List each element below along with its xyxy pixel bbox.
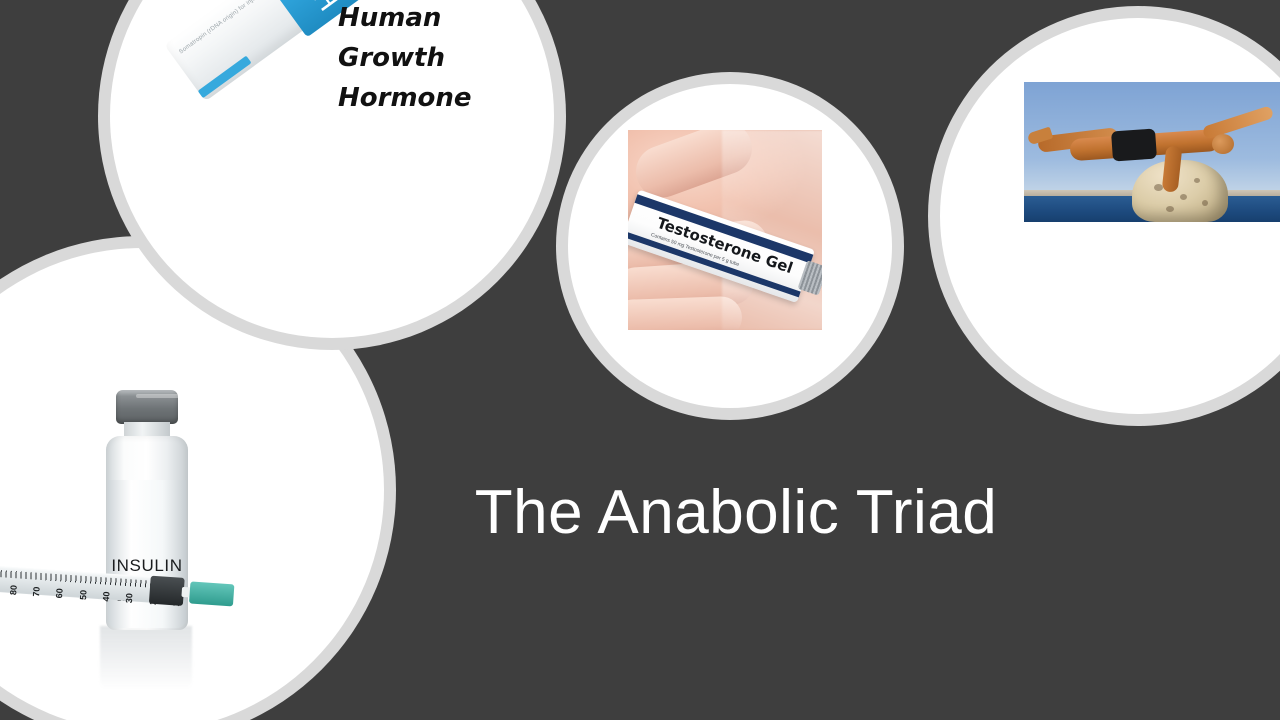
hgh-caption: Human Growth Hormone — [338, 0, 488, 118]
insulin-vial-reflection — [100, 626, 192, 690]
syringe-scale-tick: 80 — [8, 585, 19, 596]
testosterone-photo: Testosterone Gel Contains 50 mg Testoste… — [628, 130, 822, 330]
bodybuilder-photo — [1024, 82, 1280, 222]
athlete-shorts — [1111, 129, 1157, 162]
hgh-vial-body-stripe — [198, 56, 252, 99]
rock-texture-spot — [1180, 194, 1187, 200]
page-title: The Anabolic Triad — [420, 474, 1052, 552]
hgh-caption-line-1: Human — [338, 0, 488, 38]
hgh-caption-line-2: Growth — [338, 38, 488, 78]
syringe-needle-hub — [189, 581, 234, 606]
syringe-scale-tick: 70 — [31, 586, 42, 597]
rock-texture-spot — [1202, 200, 1208, 206]
syringe-scale-tick: 40 — [101, 591, 112, 602]
rock-texture-spot — [1166, 206, 1174, 212]
testosterone-circle[interactable]: Testosterone Gel Contains 50 mg Testoste… — [568, 84, 892, 408]
syringe-scale-tick: 50 — [78, 590, 89, 601]
syringe-scale-tick: 60 — [54, 588, 65, 599]
insulin-cap-groove — [136, 394, 190, 398]
hgh-caption-line-3: Hormone — [338, 78, 488, 118]
hgh-illustration: Somatropin (rDNA origin) for injection H… — [110, 0, 554, 338]
syringe-scale-tick: 30 — [124, 593, 135, 604]
insulin-vial-cap — [116, 390, 178, 424]
rock-texture-spot — [1194, 178, 1200, 183]
hgh-circle[interactable]: Somatropin (rDNA origin) for injection H… — [110, 0, 554, 338]
syringe-plunger — [149, 576, 185, 606]
athlete-head — [1212, 134, 1234, 154]
slide-canvas: INSULIN 100 units per ml 10ml 1009080706… — [0, 0, 1280, 720]
hgh-vial-fine-print: Somatropin (rDNA origin) for injection — [178, 0, 280, 56]
